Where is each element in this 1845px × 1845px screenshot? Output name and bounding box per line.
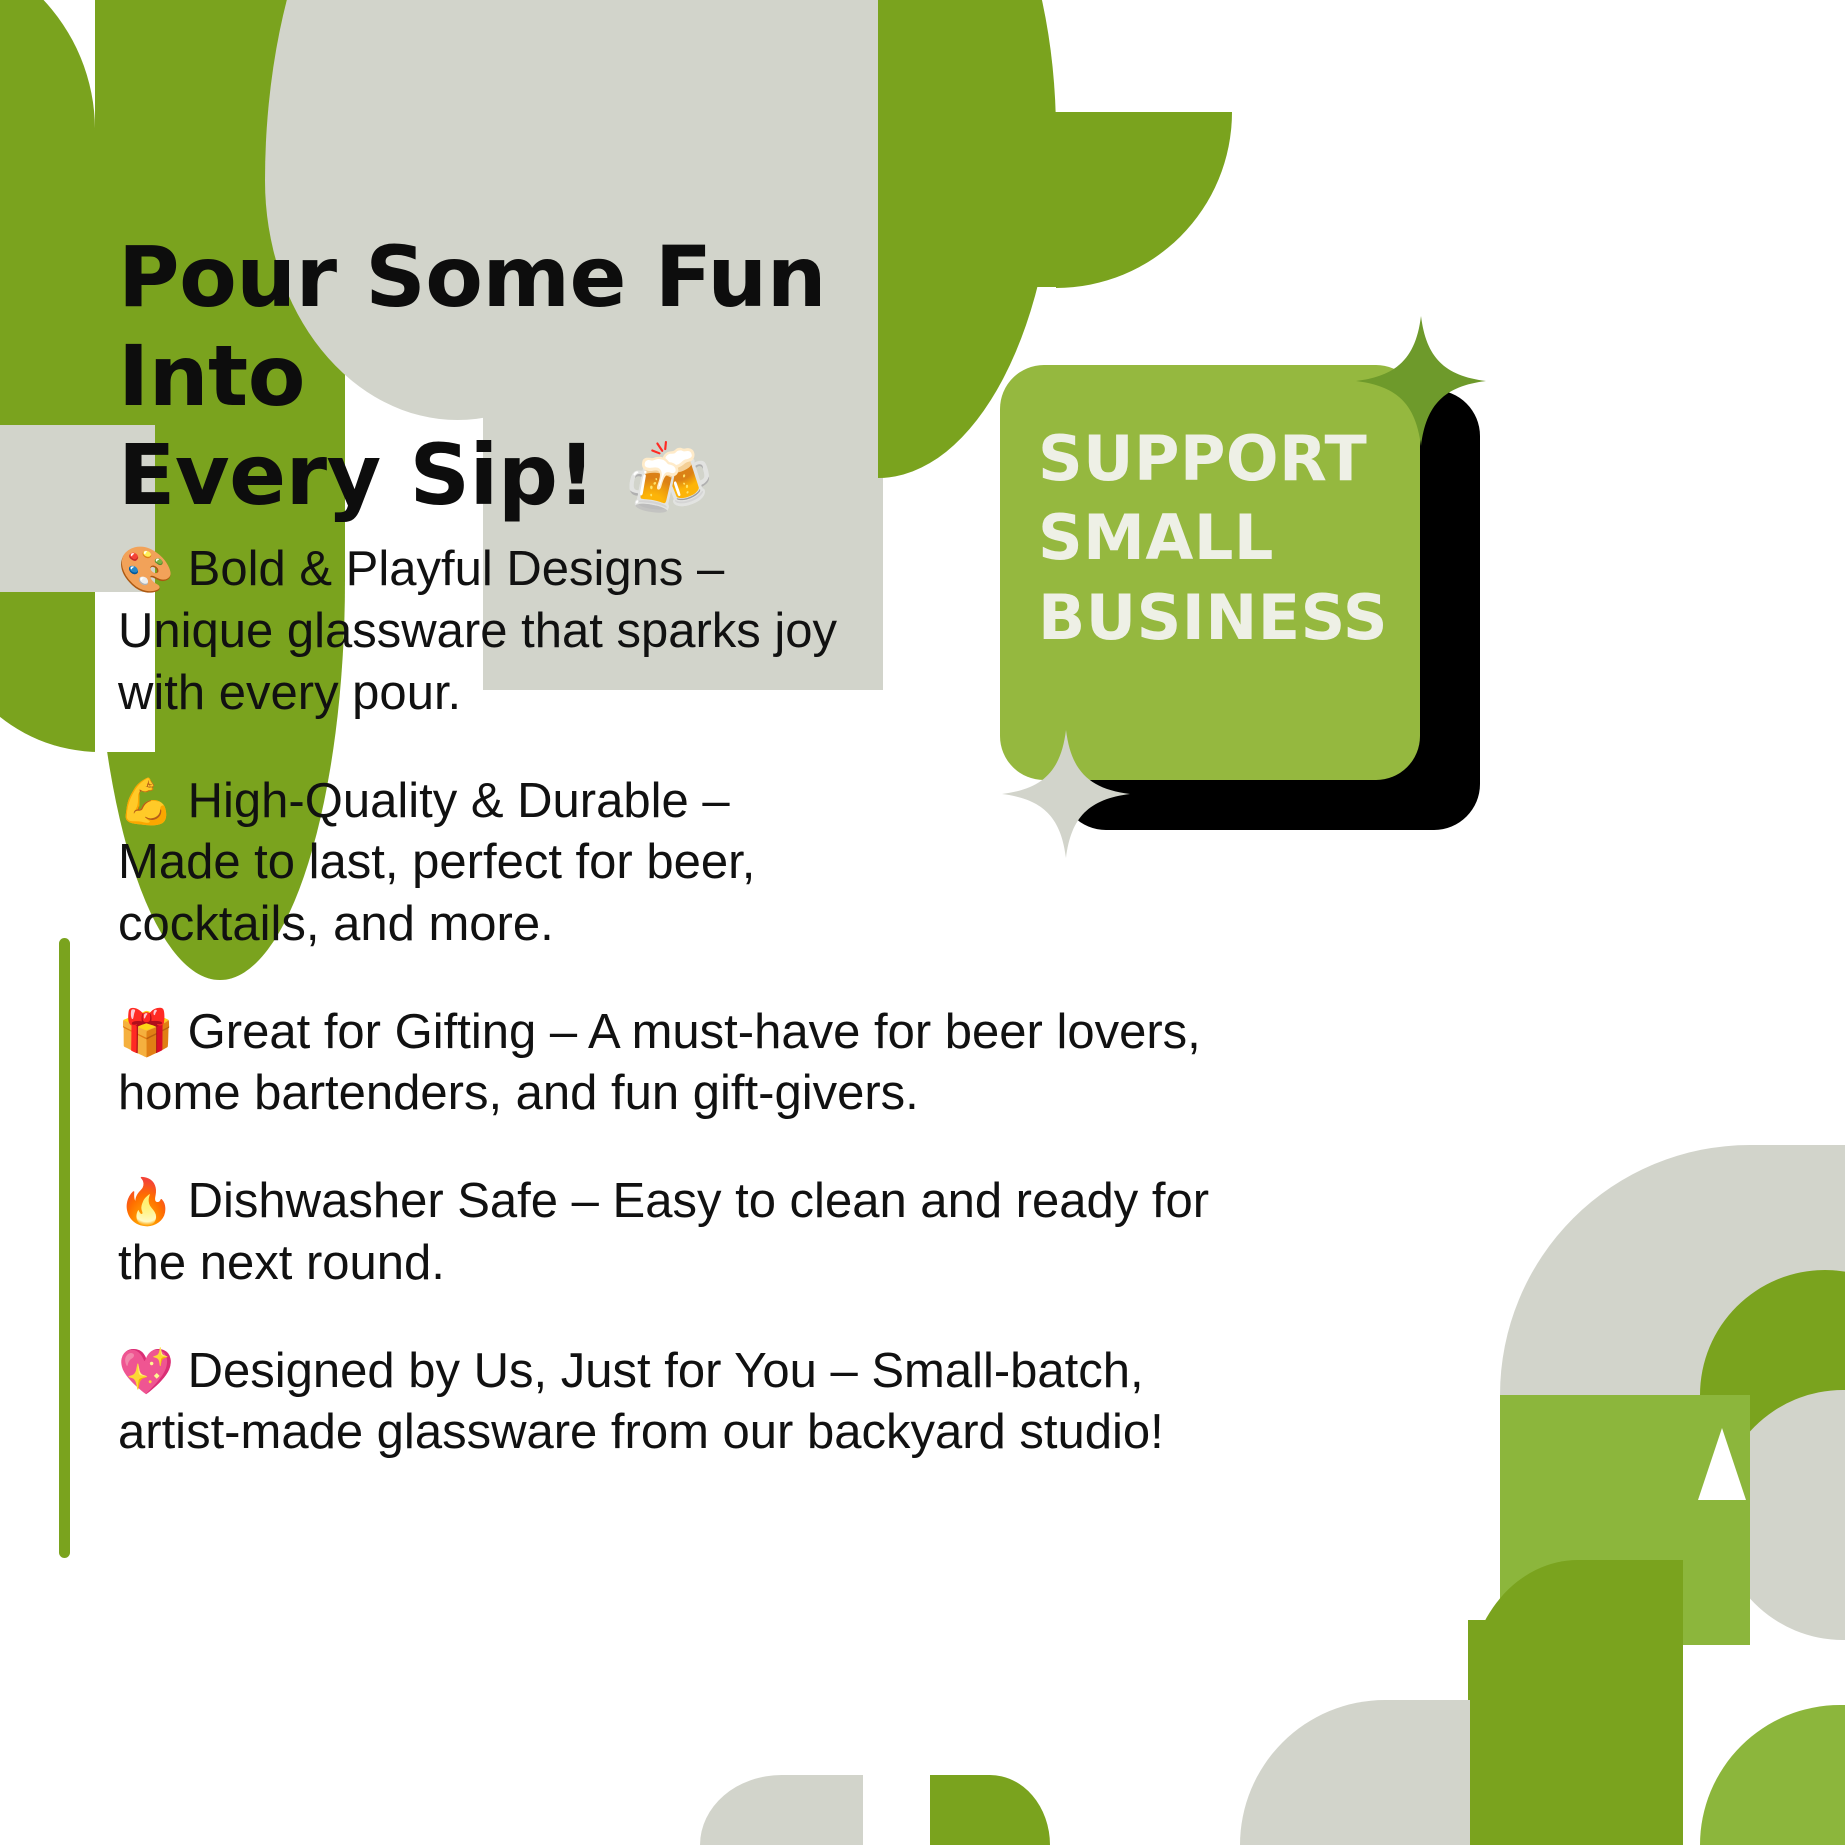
- deco-gray-square-right: [1750, 1145, 1845, 1395]
- list-item: 💪 High-Quality & Durable – Made to last,…: [118, 771, 858, 956]
- content-column: Pour Some Fun Into Every Sip! 🍻 🎨 Bold &…: [118, 228, 1278, 1464]
- list-item-text: High-Quality & Durable – Made to last, p…: [118, 774, 755, 951]
- deco-gray-quarter-disc: [1500, 1145, 1750, 1395]
- list-item-text: Bold & Playful Designs – Unique glasswar…: [118, 542, 837, 719]
- green-accent-rule: [59, 938, 70, 1558]
- page-title: Pour Some Fun Into Every Sip! 🍻: [118, 228, 978, 525]
- list-item: 🎨 Bold & Playful Designs – Unique glassw…: [118, 539, 858, 724]
- list-item: 🎁 Great for Gifting – A must-have for be…: [118, 1002, 1278, 1125]
- clinking-beer-mugs-emoji: 🍻: [624, 437, 713, 521]
- deco-green-circle: [1700, 1270, 1845, 1520]
- headline-line-2: Every Sip!: [118, 426, 595, 524]
- deco-gray-circle: [1718, 1390, 1845, 1640]
- list-item: 💖 Designed by Us, Just for You – Small-b…: [118, 1341, 1278, 1464]
- fire-emoji: 🔥: [118, 1175, 174, 1228]
- deco-green-square-mid: [1500, 1395, 1750, 1645]
- headline-line-1: Pour Some Fun Into: [118, 228, 826, 425]
- list-item-text: Great for Gifting – A must-have for beer…: [118, 1005, 1201, 1121]
- deco-white-wedge: [1698, 1428, 1746, 1500]
- deco-green-arc-bottom-center: [930, 1775, 1050, 1845]
- list-item-text: Dishwasher Safe – Easy to clean and read…: [118, 1174, 1209, 1290]
- list-item: 🔥 Dishwasher Safe – Easy to clean and re…: [118, 1171, 1278, 1294]
- deco-green-half-left: [0, 0, 95, 620]
- deco-gray-quarter-bottom: [1240, 1700, 1470, 1845]
- sparkling-heart-emoji: 💖: [118, 1345, 174, 1398]
- deco-green-quarter-bottom-right: [1700, 1705, 1845, 1845]
- flexed-biceps-emoji: 💪: [118, 775, 174, 828]
- poster-canvas: SUPPORT SMALL BUSINESS Pour Some Fun Int…: [0, 0, 1845, 1845]
- feature-list: 🎨 Bold & Playful Designs – Unique glassw…: [118, 539, 1278, 1464]
- list-item-text: Designed by Us, Just for You – Small-bat…: [118, 1344, 1164, 1460]
- deco-green-column-top: [95, 0, 345, 220]
- deco-gray-arc-bottom-center: [700, 1775, 863, 1845]
- deco-green-rect-bottom: [1468, 1620, 1683, 1845]
- wrapped-gift-emoji: 🎁: [118, 1006, 174, 1059]
- deco-green-rounded-bottom: [1468, 1560, 1683, 1690]
- artist-palette-emoji: 🎨: [118, 543, 174, 596]
- deco-green-quarter-bottom-left: [0, 592, 102, 752]
